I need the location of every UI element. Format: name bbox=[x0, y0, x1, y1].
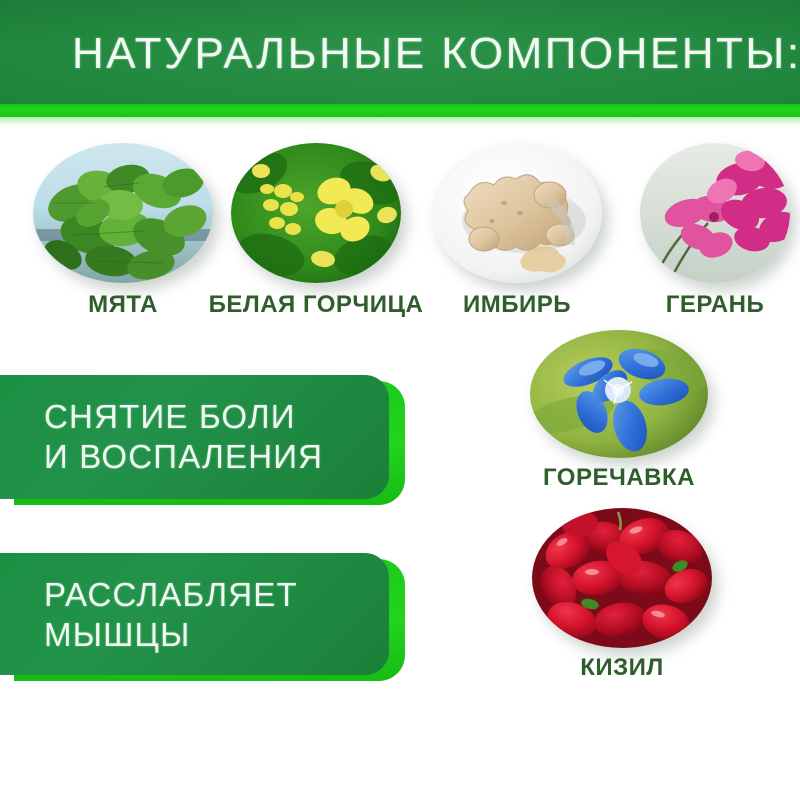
gorchitsa-label: БЕЛАЯ ГОРЧИЦА bbox=[191, 291, 441, 319]
benefit-muscle-relax: РАССЛАБЛЯЕТ МЫШЦЫ bbox=[0, 553, 410, 675]
header-accent-glow bbox=[0, 117, 800, 126]
kizil-label: КИЗИЛ bbox=[532, 654, 712, 682]
ingredient-gorechavka: ГОРЕЧАВКА bbox=[530, 330, 708, 458]
ingredient-myata: МЯТА bbox=[33, 143, 213, 283]
ingredient-geran: ГЕРАНЬ bbox=[640, 143, 790, 283]
benefit-label-1: СНЯТИЕ БОЛИ И ВОСПАЛЕНИЯ bbox=[44, 397, 323, 477]
imbir-oval-image bbox=[432, 143, 602, 283]
page-title: НАТУРАЛЬНЫЕ КОМПОНЕНТЫ: bbox=[72, 30, 800, 78]
gorechavka-label: ГОРЕЧАВКА bbox=[530, 464, 708, 492]
ingredient-kizil: КИЗИЛ bbox=[532, 508, 712, 648]
gorechavka-oval-image bbox=[530, 330, 708, 458]
ingredient-imbir: ИМБИРЬ bbox=[432, 143, 602, 283]
mint-photo bbox=[33, 143, 213, 283]
geran-label: ГЕРАНЬ bbox=[640, 291, 790, 319]
ingredient-belaya-gorchitsa: БЕЛАЯ ГОРЧИЦА bbox=[231, 143, 401, 283]
promo-infographic: НАТУРАЛЬНЫЕ КОМПОНЕНТЫ: bbox=[0, 0, 800, 800]
benefit-pain-relief: СНЯТИЕ БОЛИ И ВОСПАЛЕНИЯ bbox=[0, 375, 410, 499]
header-accent-strip bbox=[0, 104, 800, 117]
myata-label: МЯТА bbox=[33, 291, 213, 319]
gentian-photo bbox=[530, 330, 708, 458]
geranium-photo bbox=[640, 143, 790, 283]
white-mustard-photo bbox=[231, 143, 401, 283]
benefit-label-2: РАССЛАБЛЯЕТ МЫШЦЫ bbox=[44, 575, 298, 655]
cornel-berries-photo bbox=[532, 508, 712, 648]
kizil-oval-image bbox=[532, 508, 712, 648]
ginger-photo bbox=[432, 143, 602, 283]
geran-oval-image bbox=[640, 143, 790, 283]
gorchitsa-oval-image bbox=[231, 143, 401, 283]
imbir-label: ИМБИРЬ bbox=[432, 291, 602, 319]
myata-oval-image bbox=[33, 143, 213, 283]
